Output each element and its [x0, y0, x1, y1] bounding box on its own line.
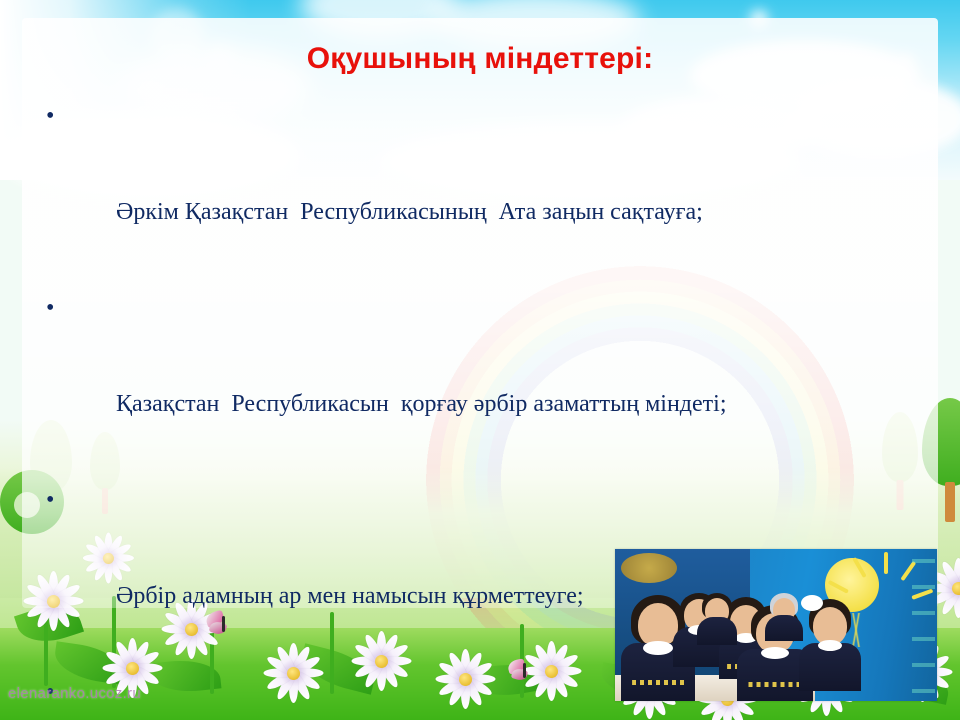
- watermark: elenaranko.ucoz.ru: [8, 685, 141, 702]
- flag-ornament: [912, 549, 935, 701]
- list-item: • Қазақстан Республикасын қорғау әрбір а…: [40, 284, 920, 476]
- student-figure: [697, 593, 737, 645]
- bullet-icon: •: [46, 476, 54, 524]
- bullet-icon: •: [46, 284, 54, 332]
- student-figure: [799, 599, 861, 691]
- page-title: Оқушының міндеттері:: [0, 42, 960, 76]
- slide-canvas: Оқушының міндеттері: • Әркім Қазақстан Р…: [0, 0, 960, 720]
- list-item: • Әркім Қазақстан Республикасының Ата за…: [40, 92, 920, 284]
- classroom-photo: [615, 549, 937, 701]
- list-item-label: Әрбір адамның ар мен намысын құрметтеуге…: [116, 583, 584, 609]
- student-figure: [765, 593, 803, 641]
- emblem-decor: [621, 553, 677, 583]
- list-item-label: Қазақстан Республикасын қорғау әрбір аза…: [116, 391, 727, 417]
- list-item-label: Әркім Қазақстан Республикасының Ата заңы…: [116, 199, 703, 225]
- bullet-icon: •: [46, 92, 54, 140]
